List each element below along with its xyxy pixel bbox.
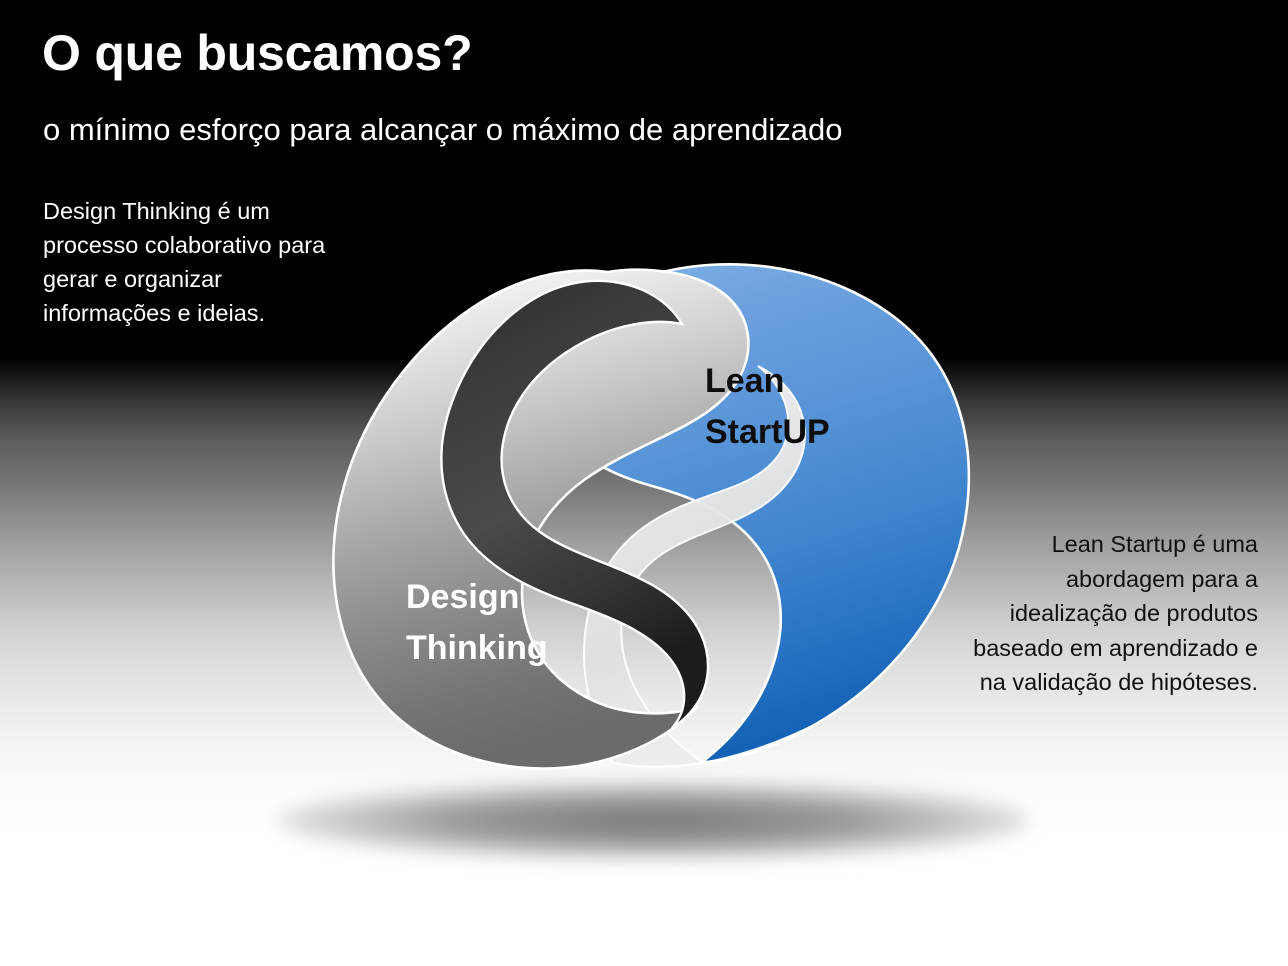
note-lean-startup: Lean Startup é uma abordagem para a idea… <box>958 527 1258 700</box>
yin-yang-diagram <box>296 258 976 776</box>
note-design-thinking: Design Thinking é um processo colaborati… <box>43 194 343 330</box>
slide-canvas: O que buscamos? o mínimo esforço para al… <box>0 0 1288 966</box>
diagram-label-design-thinking: Design Thinking <box>406 572 548 674</box>
diagram-ground-shadow <box>278 782 1030 860</box>
diagram-label-lean-startup: Lean StartUP <box>705 356 830 458</box>
page-title: O que buscamos? <box>42 24 472 82</box>
page-subtitle: o mínimo esforço para alcançar o máximo … <box>43 112 843 148</box>
